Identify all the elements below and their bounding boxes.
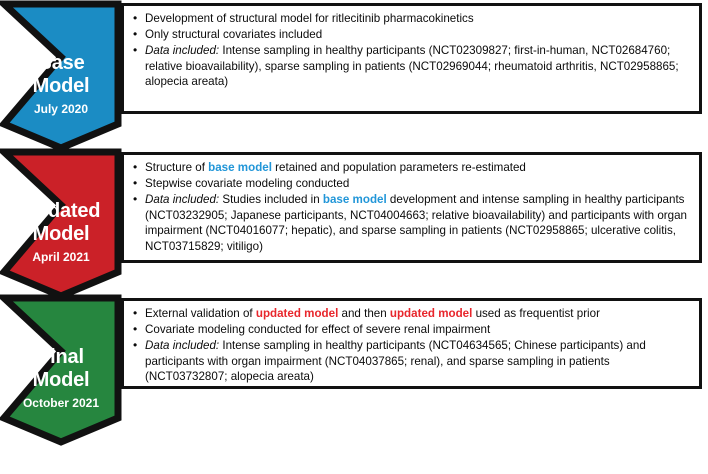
list-item: External validation of updated model and…	[132, 306, 691, 322]
chevron-shape-icon	[0, 0, 122, 152]
stage-badge-final-model: Final Model October 2021	[0, 294, 122, 446]
list-item: Data included: Studies included in base …	[132, 192, 691, 254]
bullet-text: retained and population parameters re-es…	[272, 161, 526, 174]
stage-detail-box-final-model: External validation of updated model and…	[121, 298, 702, 389]
bullet-list: External validation of updated model and…	[132, 306, 691, 385]
stage-badge-base-model: Base Model July 2020	[0, 0, 122, 152]
bullet-text: Only structural covariates included	[145, 28, 322, 41]
list-item: Stepwise covariate modeling conducted	[132, 176, 691, 192]
bullet-text-emphasis: Data included:	[145, 339, 219, 352]
list-item: Development of structural model for ritl…	[132, 11, 691, 27]
bullet-text: Stepwise covariate modeling conducted	[145, 177, 349, 190]
bullet-text-emphasis: Data included:	[145, 193, 219, 206]
bullet-text: Intense sampling in healthy participants…	[145, 44, 679, 88]
bullet-list: Development of structural model for ritl…	[132, 11, 691, 90]
model-development-flow-diagram: Base Model July 2020 Development of stru…	[0, 0, 708, 474]
list-item: Data included: Intense sampling in healt…	[132, 338, 691, 385]
bullet-text: and then	[338, 307, 390, 320]
bullet-text: External validation of	[145, 307, 256, 320]
bullet-text: Intense sampling in healthy participants…	[145, 339, 646, 383]
bullet-text-emphasis: Data included:	[145, 44, 219, 57]
stage-detail-box-base-model: Development of structural model for ritl…	[121, 3, 702, 114]
bullet-text: Studies included in	[219, 193, 323, 206]
bullet-list: Structure of base model retained and pop…	[132, 160, 691, 255]
bullet-text: Structure of	[145, 161, 208, 174]
chevron-shape-icon	[0, 294, 122, 446]
stage-base-model: Base Model July 2020 Development of stru…	[0, 0, 708, 152]
bullet-text: Development of structural model for ritl…	[145, 12, 474, 25]
bullet-text: Covariate modeling conducted for effect …	[145, 323, 490, 336]
stage-detail-box-updated-model: Structure of base model retained and pop…	[121, 152, 702, 263]
bullet-text: used as frequentist prior	[472, 307, 600, 320]
chevron-polygon	[4, 298, 118, 442]
stage-badge-updated-model: Updated Model April 2021	[0, 148, 122, 300]
stage-updated-model: Updated Model April 2021 Structure of ba…	[0, 148, 708, 300]
bullet-text-highlight: base model	[323, 193, 387, 206]
list-item: Structure of base model retained and pop…	[132, 160, 691, 176]
list-item: Only structural covariates included	[132, 27, 691, 43]
chevron-polygon	[4, 152, 118, 296]
list-item: Data included: Intense sampling in healt…	[132, 43, 691, 90]
stage-final-model: Final Model October 2021 External valida…	[0, 294, 708, 446]
list-item: Covariate modeling conducted for effect …	[132, 322, 691, 338]
chevron-polygon	[4, 4, 118, 148]
bullet-text-highlight: updated model	[256, 307, 338, 320]
bullet-text-highlight: base model	[208, 161, 272, 174]
bullet-text-highlight: updated model	[390, 307, 472, 320]
chevron-shape-icon	[0, 148, 122, 300]
